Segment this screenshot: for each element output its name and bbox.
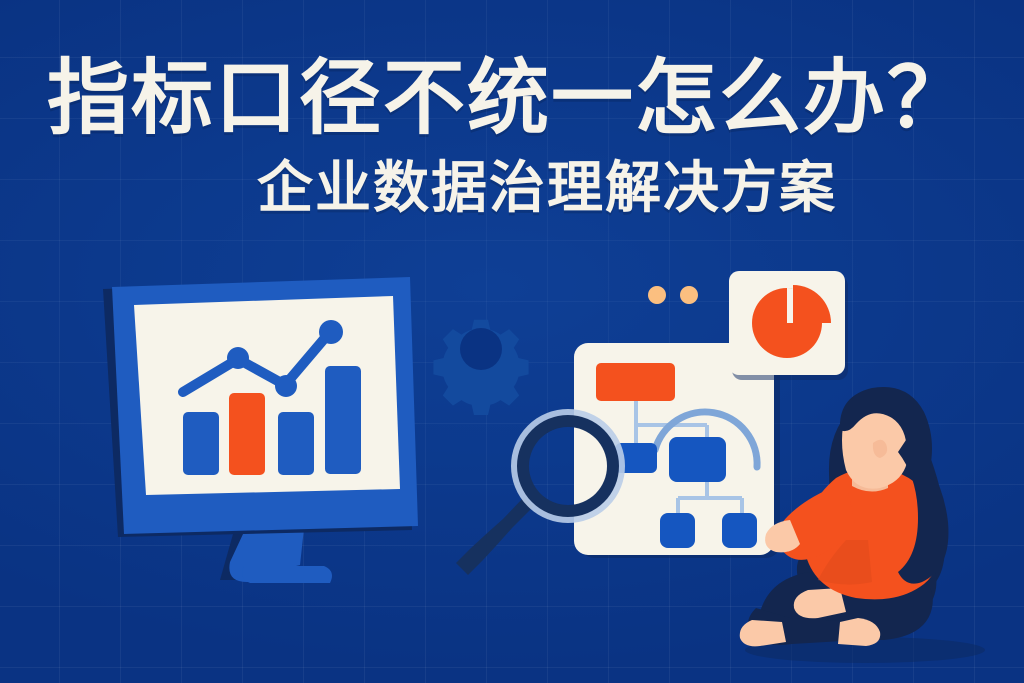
dot-2 xyxy=(680,286,698,304)
bar-4 xyxy=(325,366,361,474)
flow-node-leaf-right xyxy=(722,513,757,548)
dot-1 xyxy=(648,286,666,304)
flow-node-center xyxy=(669,437,726,482)
poster-canvas: 指标口径不统一怎么办？ 企业数据治理解决方案 xyxy=(0,0,1024,683)
bar-1 xyxy=(183,412,219,475)
bar-2 xyxy=(229,393,265,475)
trend-point-1 xyxy=(227,347,249,369)
flow-node-root xyxy=(596,363,675,401)
illustration-layer xyxy=(0,0,1024,683)
magnifier-handle xyxy=(456,497,534,575)
bar-3 xyxy=(278,412,314,475)
trend-point-3 xyxy=(319,320,343,344)
decorative-dots xyxy=(648,286,698,304)
gear-hole xyxy=(460,328,502,370)
trend-point-2 xyxy=(275,375,297,397)
settings-gear-icon xyxy=(433,320,528,415)
analytics-monitor xyxy=(103,277,418,583)
monitor-base xyxy=(242,566,332,583)
flow-node-leaf-left xyxy=(660,513,695,548)
pie-chart-card xyxy=(729,271,848,380)
foot-left xyxy=(740,620,786,646)
